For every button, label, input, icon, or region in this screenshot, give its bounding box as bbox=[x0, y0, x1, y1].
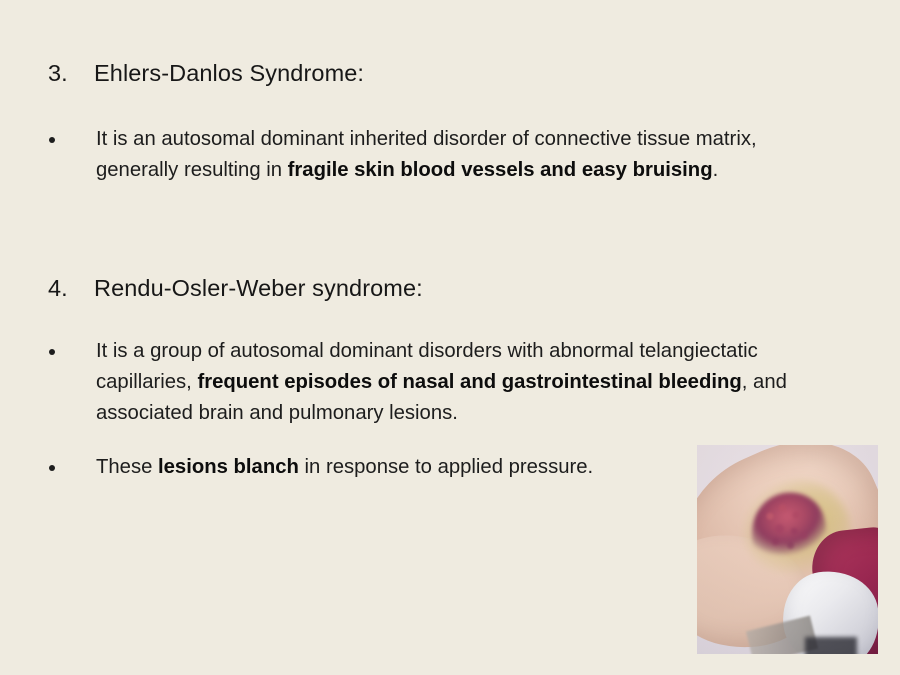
list-number-3: 3. bbox=[48, 58, 94, 88]
bullet-dot-icon bbox=[46, 124, 96, 155]
text-run: . bbox=[713, 159, 719, 181]
bullet-text: It is an autosomal dominant inherited di… bbox=[96, 124, 806, 186]
bullet-text: These lesions blanch in response to appl… bbox=[96, 452, 686, 483]
bullet-dot-icon bbox=[46, 336, 96, 367]
bold-run: fragile skin blood vessels and easy brui… bbox=[288, 159, 713, 181]
photo-content bbox=[697, 445, 878, 654]
text-run: in response to applied pressure. bbox=[299, 456, 593, 478]
slide-canvas: 3. Ehlers-Danlos Syndrome: It is an auto… bbox=[0, 0, 900, 675]
list-number-4: 4. bbox=[48, 273, 94, 303]
photo-dark-object bbox=[805, 637, 857, 654]
list-heading-4: 4. Rendu-Osler-Weber syndrome: bbox=[48, 273, 840, 303]
bullet-dot-icon bbox=[46, 452, 96, 483]
list-heading-3: 3. Ehlers-Danlos Syndrome: bbox=[48, 58, 840, 88]
list-title-4: Rendu-Osler-Weber syndrome: bbox=[94, 273, 840, 303]
text-run: These bbox=[96, 456, 158, 478]
bullet-item: It is a group of autosomal dominant diso… bbox=[46, 336, 836, 429]
bullet-item: These lesions blanch in response to appl… bbox=[46, 452, 686, 483]
bullet-text: It is a group of autosomal dominant diso… bbox=[96, 336, 836, 429]
bruise-photograph bbox=[697, 445, 878, 654]
bullet-item: It is an autosomal dominant inherited di… bbox=[46, 124, 806, 186]
bold-run: lesions blanch bbox=[158, 456, 299, 478]
bold-run: frequent episodes of nasal and gastroint… bbox=[197, 371, 741, 393]
list-title-3: Ehlers-Danlos Syndrome: bbox=[94, 58, 840, 88]
